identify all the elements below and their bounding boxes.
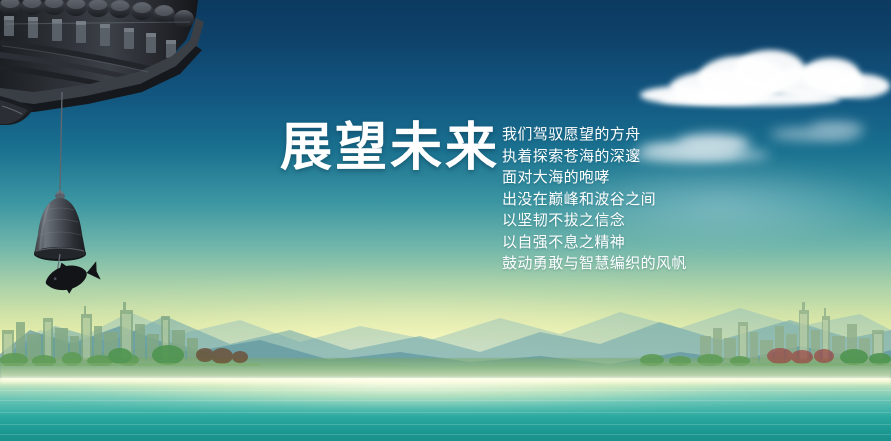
poem-line: 面对大海的咆哮: [502, 167, 712, 189]
poem-block: 我们驾驭愿望的方舟 执着探索苍海的深邃 面对大海的咆哮 出没在巅峰和波谷之间 以…: [502, 124, 712, 275]
lake-water: [0, 378, 891, 441]
cumulus-cloud: [640, 48, 890, 118]
poem-line: 出没在巅峰和波谷之间: [502, 189, 712, 211]
poem-line: 我们驾驭愿望的方舟: [502, 124, 712, 146]
waterline-highlight: [0, 376, 891, 383]
wispy-cloud: [770, 120, 890, 154]
poem-line: 以自强不息之精神: [502, 232, 712, 254]
poem-line: 鼓动勇敢与智慧编织的风帆: [502, 253, 712, 275]
poem-line: 执着探索苍海的深邃: [502, 146, 712, 168]
poem-line: 以坚韧不拔之信念: [502, 210, 712, 232]
water-specular: [0, 378, 891, 441]
future-outlook-banner: 展望未来 我们驾驭愿望的方舟 执着探索苍海的深邃 面对大海的咆哮 出没在巅峰和波…: [0, 0, 891, 441]
page-title: 展望未来: [280, 122, 500, 174]
